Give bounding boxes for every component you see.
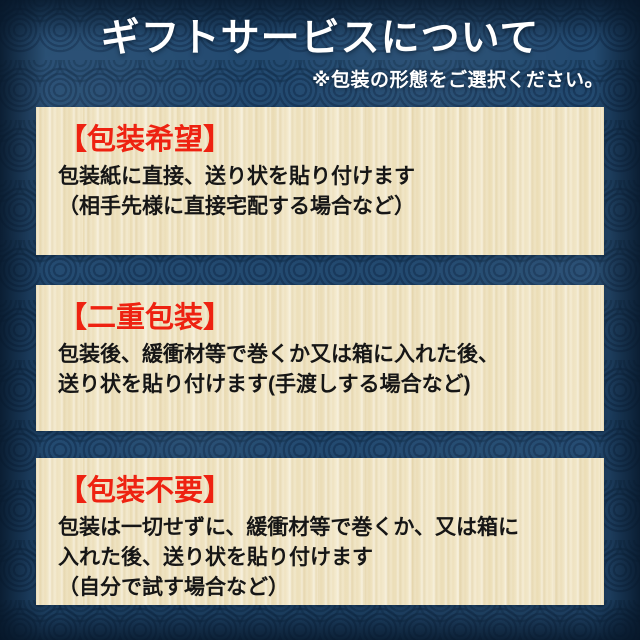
option-heading: 【包装希望】 <box>58 121 604 159</box>
option-heading: 【包装不要】 <box>58 472 604 510</box>
option-description-line: 送り状を貼り付けます(手渡しする場合など) <box>58 370 604 400</box>
option-description-line: 入れた後、送り状を貼り付けます <box>58 543 604 573</box>
page-title: ギフトサービスについて <box>0 0 640 62</box>
banner-header: ギフトサービスについて ※包装の形態をご選択ください。 <box>0 0 640 93</box>
option-description: 包装紙に直接、送り状を貼り付けます （相手先様に直接宅配する場合など） <box>58 162 604 222</box>
option-description-line: （自分で試す場合など） <box>58 573 604 603</box>
option-description-line: （相手先様に直接宅配する場合など） <box>58 192 604 222</box>
gift-service-banner: ギフトサービスについて ※包装の形態をご選択ください。 【包装希望】 包装紙に直… <box>0 0 640 640</box>
option-heading: 【二重包装】 <box>58 299 604 337</box>
option-card-double-wrapping[interactable]: 【二重包装】 包装後、緩衝材等で巻くか又は箱に入れた後、 送り状を貼り付けます(… <box>36 285 604 431</box>
option-card-wrapping-requested[interactable]: 【包装希望】 包装紙に直接、送り状を貼り付けます （相手先様に直接宅配する場合な… <box>36 107 604 255</box>
option-description-line: 包装後、緩衝材等で巻くか又は箱に入れた後、 <box>58 340 604 370</box>
option-card-no-wrapping[interactable]: 【包装不要】 包装は一切せずに、緩衝材等で巻くか、又は箱に 入れた後、送り状を貼… <box>36 458 604 605</box>
option-description: 包装は一切せずに、緩衝材等で巻くか、又は箱に 入れた後、送り状を貼り付けます （… <box>58 513 604 603</box>
option-description: 包装後、緩衝材等で巻くか又は箱に入れた後、 送り状を貼り付けます(手渡しする場合… <box>58 340 604 400</box>
option-description-line: 包装は一切せずに、緩衝材等で巻くか、又は箱に <box>58 513 604 543</box>
page-subtitle: ※包装の形態をご選択ください。 <box>0 62 640 93</box>
option-description-line: 包装紙に直接、送り状を貼り付けます <box>58 162 604 192</box>
